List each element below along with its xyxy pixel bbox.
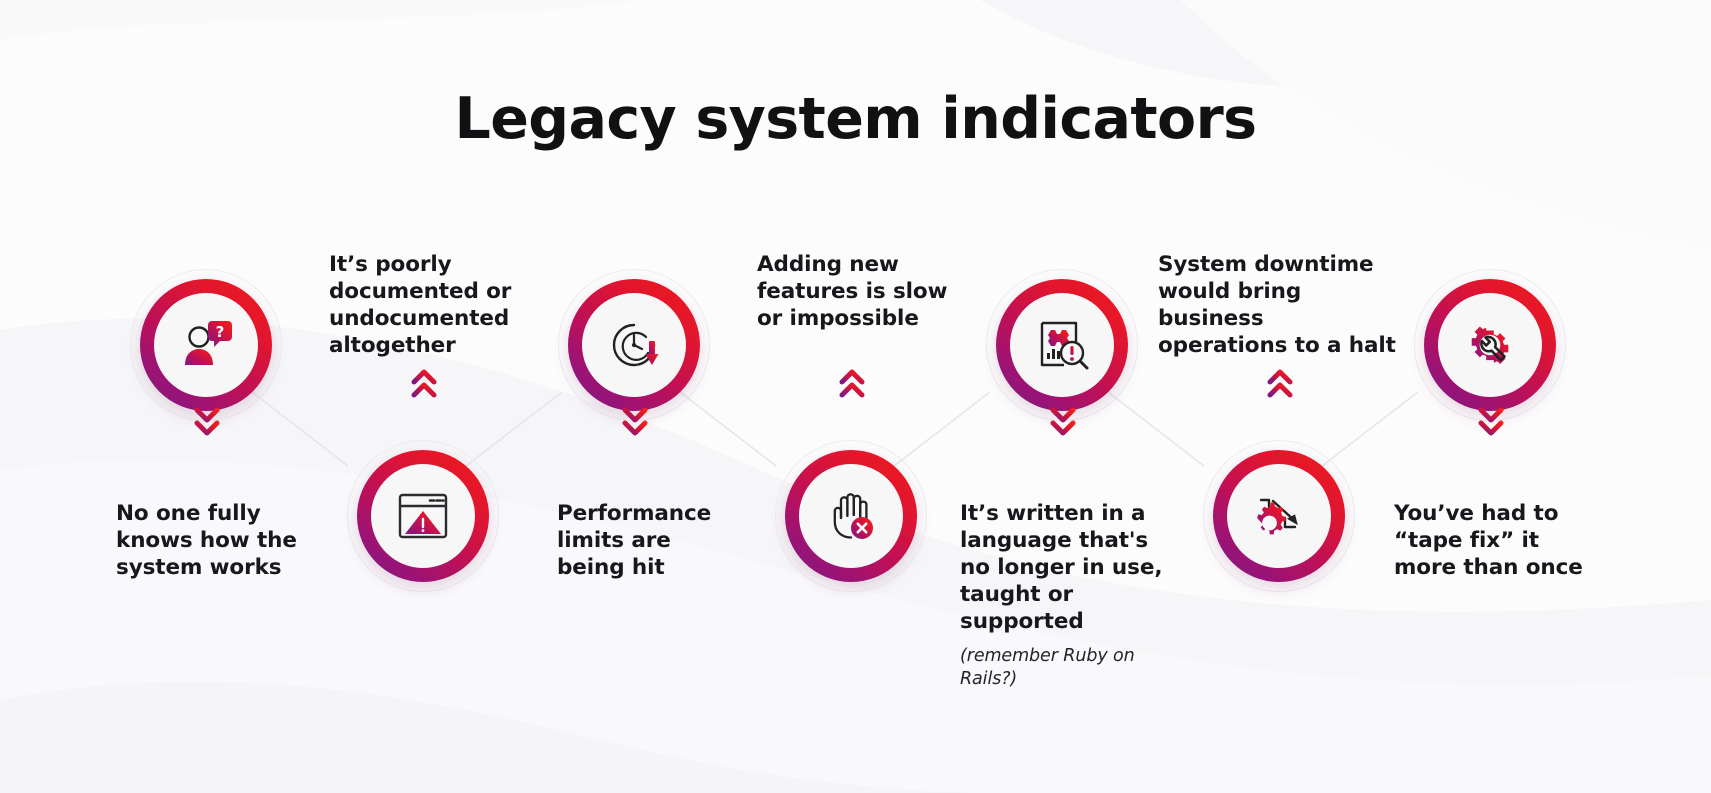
node-obsolete-language[interactable] — [996, 279, 1128, 411]
page-title: Legacy system indicators — [0, 86, 1711, 152]
node-no-one-knows[interactable]: ? — [140, 279, 272, 411]
label-adding-features-slow: Adding new features is slow or impossibl… — [757, 251, 962, 332]
node-ring — [996, 279, 1128, 411]
double-chevron-down-icon-4 — [1476, 402, 1506, 442]
double-chevron-down-icon-2 — [620, 402, 650, 442]
double-chevron-up-icon-2 — [837, 364, 867, 404]
double-chevron-down-icon-3 — [1048, 402, 1078, 442]
node-performance-limits[interactable] — [568, 279, 700, 411]
double-chevron-up-icon-1 — [409, 364, 439, 404]
label-tape-fix: You’ve had to “tape fix” it more than on… — [1394, 500, 1594, 581]
node-disc — [371, 464, 475, 568]
label-obsolete-language-main: It’s written in a language that's no lon… — [960, 501, 1162, 634]
node-ring — [785, 450, 917, 582]
node-disc — [582, 293, 686, 397]
node-ring — [568, 279, 700, 411]
node-adding-features-slow[interactable] — [785, 450, 917, 582]
label-obsolete-language: It’s written in a language that's no lon… — [960, 500, 1165, 691]
label-performance-limits: Performance limits are being hit — [557, 500, 742, 581]
node-disc: ? — [154, 293, 258, 397]
node-tape-fix[interactable] — [1424, 279, 1556, 411]
node-disc — [799, 464, 903, 568]
svg-text:?: ? — [216, 323, 225, 341]
node-poorly-documented[interactable] — [357, 450, 489, 582]
label-obsolete-language-note: (remember Ruby on Rails?) — [960, 645, 1165, 691]
node-ring: ? — [140, 279, 272, 411]
label-system-downtime: System downtime would bring business ope… — [1158, 251, 1398, 359]
node-disc — [1010, 293, 1114, 397]
gear-descending-stairs-arrow-icon — [1247, 484, 1311, 548]
double-chevron-down-icon-1 — [192, 402, 222, 442]
person-question-icon: ? — [174, 313, 238, 377]
node-disc — [1438, 293, 1542, 397]
clock-down-arrow-icon — [602, 313, 666, 377]
double-chevron-up-icon-3 — [1265, 364, 1295, 404]
node-ring — [1424, 279, 1556, 411]
node-ring — [357, 450, 489, 582]
infographic-canvas: Legacy system indicators — [0, 0, 1711, 793]
hand-stop-error-icon — [819, 484, 883, 548]
browser-warning-icon — [391, 484, 455, 548]
label-no-one-knows: No one fully knows how the system works — [116, 500, 316, 581]
gear-wrench-icon — [1458, 313, 1522, 377]
node-disc — [1227, 464, 1331, 568]
report-gears-magnifier-alert-icon — [1030, 313, 1094, 377]
node-ring — [1213, 450, 1345, 582]
label-poorly-documented: It’s poorly documented or undocumented a… — [329, 251, 544, 359]
node-system-downtime[interactable] — [1213, 450, 1345, 582]
